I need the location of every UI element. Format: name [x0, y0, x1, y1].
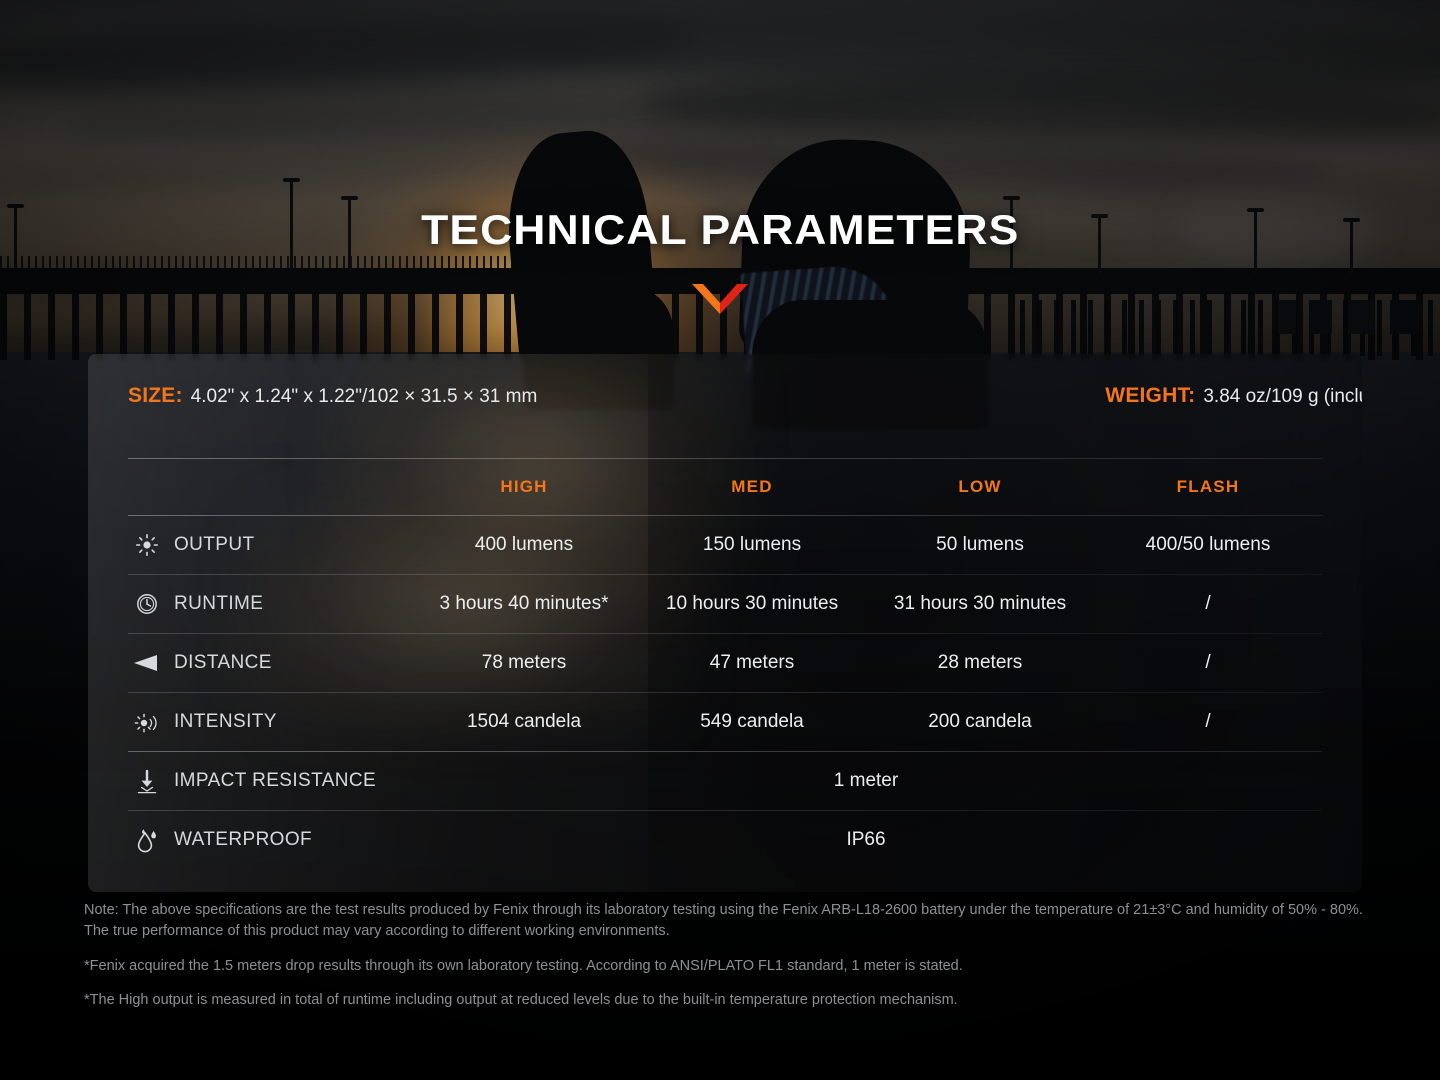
specs-table: HIGH MED LOW FLASH — [128, 458, 1322, 869]
sun-rays-icon — [132, 709, 162, 735]
cell-output-med: 150 lumens — [638, 534, 866, 556]
cell-runtime-flash: / — [1094, 593, 1322, 615]
row-label-text: DISTANCE — [174, 652, 272, 674]
row-label-waterproof: WATERPROOF — [128, 827, 410, 853]
footnote-specifications: Note: The above specifications are the t… — [84, 900, 1374, 943]
weight-block: WEIGHT: 3.84 oz/109 g (including battery… — [1105, 384, 1362, 408]
cell-intensity-flash: / — [1094, 711, 1322, 733]
row-label-text: WATERPROOF — [174, 829, 312, 851]
cell-runtime-med: 10 hours 30 minutes — [638, 593, 866, 615]
page-title-container: TECHNICAL PARAMETERS — [0, 206, 1440, 254]
cell-waterproof-value: IP66 — [410, 829, 1322, 851]
size-value: 4.02" x 1.24" x 1.22"/102 × 31.5 × 31 mm — [191, 386, 538, 408]
row-label-text: OUTPUT — [174, 534, 255, 556]
size-weight-row: SIZE: 4.02" x 1.24" x 1.22"/102 × 31.5 ×… — [128, 384, 1322, 408]
row-label-text: IMPACT RESISTANCE — [174, 770, 376, 792]
footnotes: Note: The above specifications are the t… — [84, 900, 1374, 1012]
table-row: INTENSITY 1504 candela 549 candela 200 c… — [128, 693, 1322, 751]
cell-runtime-low: 31 hours 30 minutes — [866, 593, 1094, 615]
cell-intensity-low: 200 candela — [866, 711, 1094, 733]
sun-icon — [132, 532, 162, 558]
row-label-text: INTENSITY — [174, 711, 277, 733]
cell-intensity-high: 1504 candela — [410, 711, 638, 733]
column-header-high: HIGH — [410, 477, 638, 497]
cell-distance-med: 47 meters — [638, 652, 866, 674]
cell-intensity-med: 549 candela — [638, 711, 866, 733]
row-label-output: OUTPUT — [128, 532, 410, 558]
water-droplet-icon — [132, 827, 162, 853]
column-header-flash: FLASH — [1094, 477, 1322, 497]
cell-distance-flash: / — [1094, 652, 1322, 674]
cell-runtime-high: 3 hours 40 minutes* — [410, 593, 638, 615]
table-row: RUNTIME 3 hours 40 minutes* 10 hours 30 … — [128, 575, 1322, 633]
cell-distance-high: 78 meters — [410, 652, 638, 674]
table-row: OUTPUT 400 lumens 150 lumens 50 lumens 4… — [128, 516, 1322, 574]
cell-distance-low: 28 meters — [866, 652, 1094, 674]
page-title: TECHNICAL PARAMETERS — [421, 206, 1019, 254]
size-label: SIZE: — [128, 384, 183, 408]
weight-label: WEIGHT: — [1105, 384, 1195, 408]
cell-impact-resistance-value: 1 meter — [410, 770, 1322, 792]
row-label-runtime: RUNTIME — [128, 591, 410, 617]
specs-panel: SIZE: 4.02" x 1.24" x 1.22"/102 × 31.5 ×… — [88, 354, 1362, 892]
beam-cone-icon — [132, 650, 162, 676]
cell-output-low: 50 lumens — [866, 534, 1094, 556]
clock-icon — [132, 591, 162, 617]
table-row: IMPACT RESISTANCE 1 meter — [128, 752, 1322, 810]
chevron-container — [0, 282, 1440, 319]
chevron-down-icon — [692, 282, 748, 314]
table-header-row: HIGH MED LOW FLASH — [128, 459, 1322, 515]
footnote-high-output: *The High output is measured in total of… — [84, 990, 1374, 1011]
size-block: SIZE: 4.02" x 1.24" x 1.22"/102 × 31.5 ×… — [128, 384, 537, 408]
row-label-distance: DISTANCE — [128, 650, 410, 676]
row-label-impact-resistance: IMPACT RESISTANCE — [128, 768, 410, 794]
row-label-intensity: INTENSITY — [128, 709, 410, 735]
drop-impact-arrow-icon — [132, 768, 162, 794]
column-header-med: MED — [638, 477, 866, 497]
table-row: WATERPROOF IP66 — [128, 811, 1322, 869]
row-label-text: RUNTIME — [174, 593, 263, 615]
column-header-low: LOW — [866, 477, 1094, 497]
table-row: DISTANCE 78 meters 47 meters 28 meters / — [128, 634, 1322, 692]
technical-parameters-page: TECHNICAL PARAMETERS SIZE: 4.02" x 1.24"… — [0, 0, 1440, 1080]
weight-value: 3.84 oz/109 g (including battery) — [1203, 386, 1362, 408]
cell-output-high: 400 lumens — [410, 534, 638, 556]
footnote-drop-test: *Fenix acquired the 1.5 meters drop resu… — [84, 956, 1374, 977]
cell-output-flash: 400/50 lumens — [1094, 534, 1322, 556]
